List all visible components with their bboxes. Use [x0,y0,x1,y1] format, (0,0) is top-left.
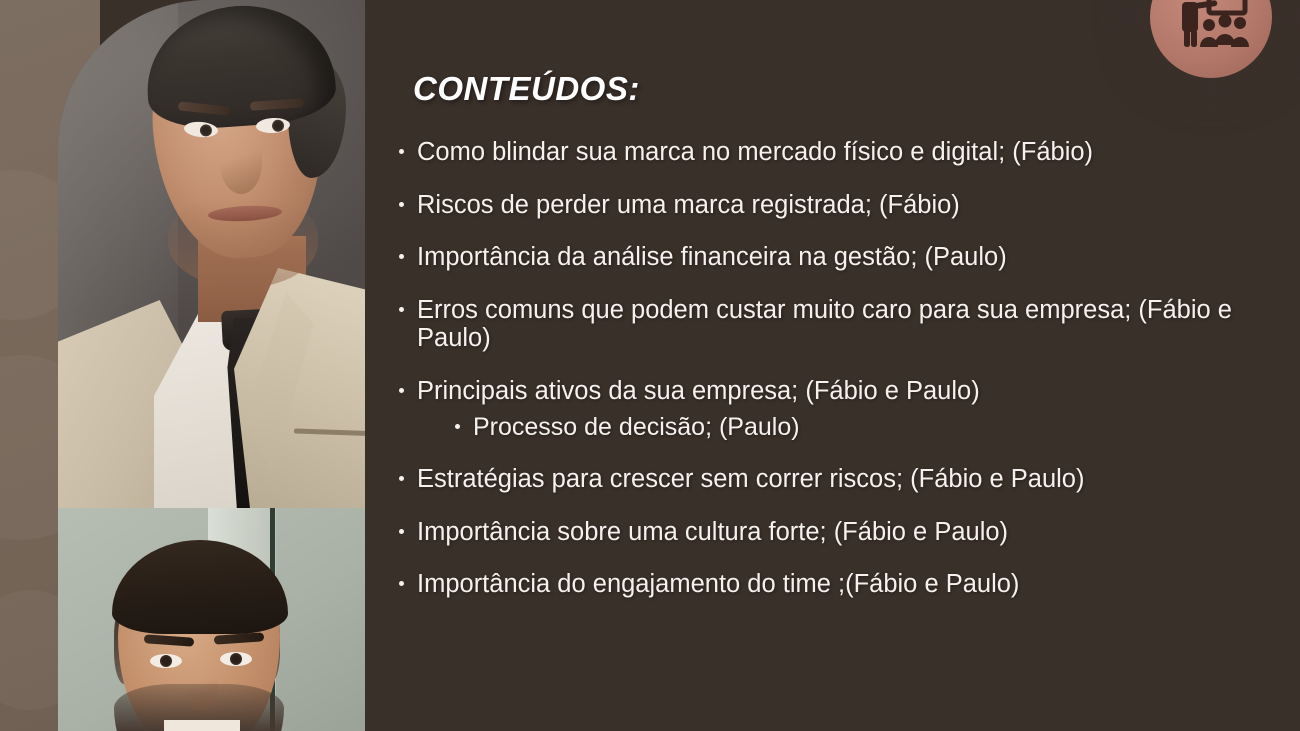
list-item-label: Estratégias para crescer sem correr risc… [417,465,1084,493]
list-item-label: Processo de decisão; (Paulo) [473,413,800,441]
portrait-stack [58,0,365,731]
page-title: CONTEÚDOS: [413,70,640,108]
list-item: Estratégias para crescer sem correr risc… [395,465,1275,494]
list-item-label: Principais ativos da sua empresa; (Fábio… [417,377,980,405]
list-item: Erros comuns que podem custar muito caro… [395,296,1275,353]
list-item-label: Importância do engajamento do time ;(Fáb… [417,570,1019,598]
nose [220,132,262,194]
eye-left [150,654,182,668]
nose [184,660,218,710]
presentation-slide: CONTEÚDOS: Como blindar sua marca no mer… [0,0,1300,731]
bullet-dot [399,149,404,154]
bullet-dot [399,254,404,259]
list-item: Riscos de perder uma marca registrada; (… [395,191,1275,220]
list-item-label: Como blindar sua marca no mercado físico… [417,138,1093,166]
bullet-dot [399,307,404,312]
bullet-dot [399,476,404,481]
bullet-dot [399,581,404,586]
bullet-dot [455,424,460,429]
list-item: Como blindar sua marca no mercado físico… [395,138,1275,167]
list-item-label: Erros comuns que podem custar muito caro… [417,296,1232,353]
list-item-label: Importância sobre uma cultura forte; (Fá… [417,518,1008,546]
mouth [164,720,240,731]
list-item: Importância sobre uma cultura forte; (Fá… [395,518,1275,547]
list-item-sub: Processo de decisão; (Paulo) [451,413,1275,441]
bullet-dot [399,388,404,393]
content-column: CONTEÚDOS: Como blindar sua marca no mer… [395,0,1275,731]
portrait-fabio [58,0,365,508]
list-item: Importância do engajamento do time ;(Fáb… [395,570,1275,599]
list-item-label: Riscos de perder uma marca registrada; (… [417,191,960,219]
list-item: Importância da análise financeira na ges… [395,243,1275,272]
portrait-paulo [58,508,365,731]
list-item: Principais ativos da sua empresa; (Fábio… [395,377,1275,406]
contents-list: Como blindar sua marca no mercado físico… [395,138,1275,623]
bullet-dot [399,202,404,207]
bullet-dot [399,529,404,534]
eye-right [220,652,252,666]
portrait-paulo-image [58,508,365,731]
list-item-label: Importância da análise financeira na ges… [417,243,1007,271]
portrait-fabio-image [58,0,365,508]
